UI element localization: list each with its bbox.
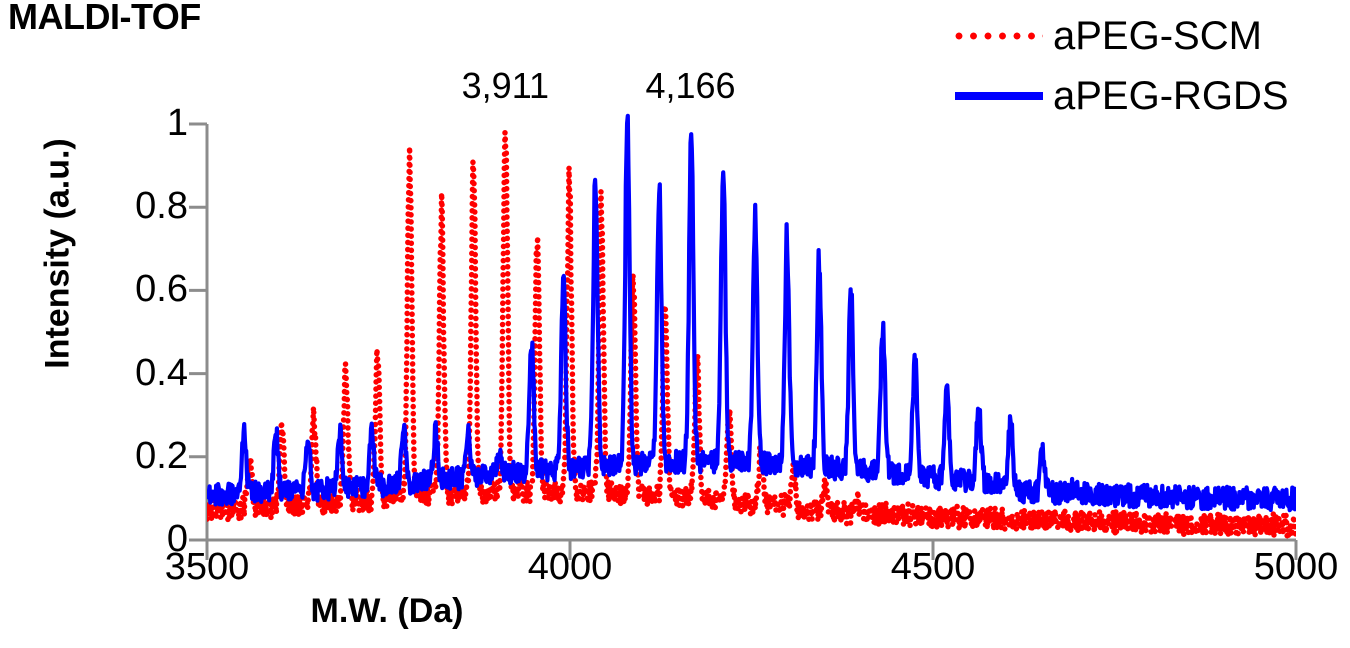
y-tick-label: 1 (88, 104, 188, 142)
x-tick-label: 4500 (833, 548, 1033, 586)
y-axis-title: Intensity (a.u.) (39, 44, 78, 464)
legend-label-apeg-scm: aPEG-SCM (1053, 16, 1262, 56)
x-tick-label: 3500 (107, 548, 307, 586)
y-tick-label: 0.6 (88, 270, 188, 308)
chart-legend: aPEG-SCM aPEG-RGDS (955, 6, 1345, 126)
legend-label-apeg-rgds: aPEG-RGDS (1053, 76, 1289, 116)
maldi-tof-chart-figure: MALDI-TOF aPEG-SCM aPEG-RGDS Intensity (… (0, 0, 1350, 648)
solid-line-swatch (955, 86, 1043, 106)
legend-item-apeg-scm: aPEG-SCM (955, 6, 1345, 66)
legend-item-apeg-rgds: aPEG-RGDS (955, 66, 1345, 126)
y-tick-label: 0.8 (88, 187, 188, 225)
x-tick-label: 4000 (470, 548, 670, 586)
peak-annotation: 4,166 (581, 68, 801, 104)
x-axis-title: M.W. (Da) (207, 592, 567, 631)
y-tick-label: 0.4 (88, 354, 188, 392)
spectrum-traces (207, 116, 1296, 537)
dotted-line-swatch (955, 26, 1043, 46)
x-tick-label: 5000 (1196, 548, 1350, 586)
y-tick-label: 0.2 (88, 437, 188, 475)
series-trace-apeg-rgds (207, 116, 1296, 510)
